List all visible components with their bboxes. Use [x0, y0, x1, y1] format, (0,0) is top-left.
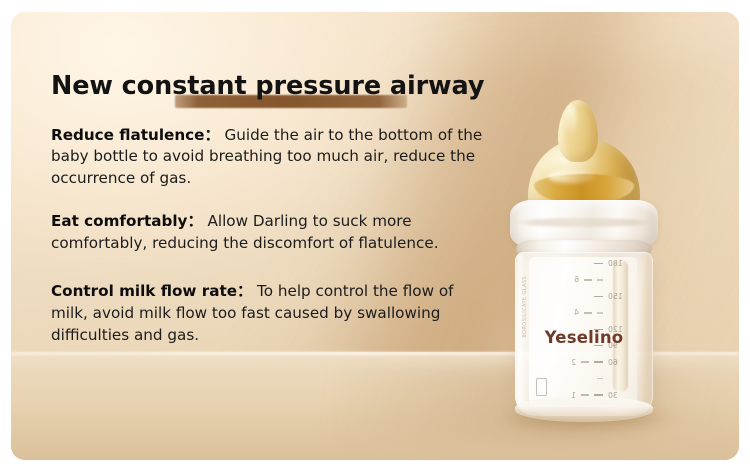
scale-tick — [597, 378, 603, 379]
scale-row: 301 — [538, 390, 630, 401]
scale-oz-tick — [584, 279, 592, 280]
scale-oz-tick — [584, 312, 592, 313]
scale-tick — [597, 279, 603, 280]
scale-oz-label: 2 — [566, 358, 576, 367]
brand-wordmark: Yeselino — [528, 328, 640, 347]
scale-row: 4 — [538, 307, 630, 318]
feature-paragraph-3: Control milk flow rate： To help control … — [51, 281, 475, 346]
scale-oz-tick — [581, 361, 589, 362]
scale-ml-label: 60 — [608, 358, 630, 367]
screenshot-canvas: BOROSILICATE GLASS 1806150412090602301 Y… — [0, 0, 750, 475]
feature-paragraph-1: Reduce flatulence： Guide the air to the … — [51, 125, 503, 190]
glass-right-shading — [640, 254, 651, 410]
collar-groove — [514, 218, 654, 227]
scale-oz-label: 4 — [569, 308, 579, 317]
scale-oz-tick — [581, 394, 589, 395]
baby-bottle-product-image: BOROSILICATE GLASS 1806150412090602301 Y… — [492, 100, 692, 420]
feature-lead-2: Eat comfortably： — [51, 212, 203, 230]
scale-row: 150 — [538, 291, 630, 302]
feature-lead-3: Control milk flow rate： — [51, 282, 252, 300]
scale-ml-label: 180 — [608, 259, 630, 268]
feature-paragraph-2: Eat comfortably： Allow Darling to suck m… — [51, 211, 459, 254]
scale-oz-label: 6 — [569, 275, 579, 284]
scale-row — [538, 373, 630, 384]
scale-oz-label: 1 — [566, 391, 576, 400]
page-title: New constant pressure airway — [51, 72, 511, 101]
nipple-tip — [558, 100, 598, 162]
feature-lead-1: Reduce flatulence： — [51, 126, 220, 144]
scale-tick — [594, 296, 603, 297]
scale-row: 180 — [538, 258, 630, 269]
scale-ml-label: 150 — [608, 292, 630, 301]
scale-tick — [594, 361, 603, 362]
scale-tick — [597, 312, 603, 313]
scale-row: 602 — [538, 357, 630, 368]
scale-tick — [594, 394, 603, 395]
label-icon-glyph — [536, 378, 547, 396]
nipple-highlight — [548, 170, 596, 183]
product-feature-panel: BOROSILICATE GLASS 1806150412090602301 Y… — [11, 12, 739, 460]
scale-tick — [594, 263, 603, 264]
scale-row: 6 — [538, 274, 630, 285]
feature-copy-block: New constant pressure airway Reduce flat… — [51, 72, 511, 361]
scale-ml-label: 30 — [608, 391, 630, 400]
